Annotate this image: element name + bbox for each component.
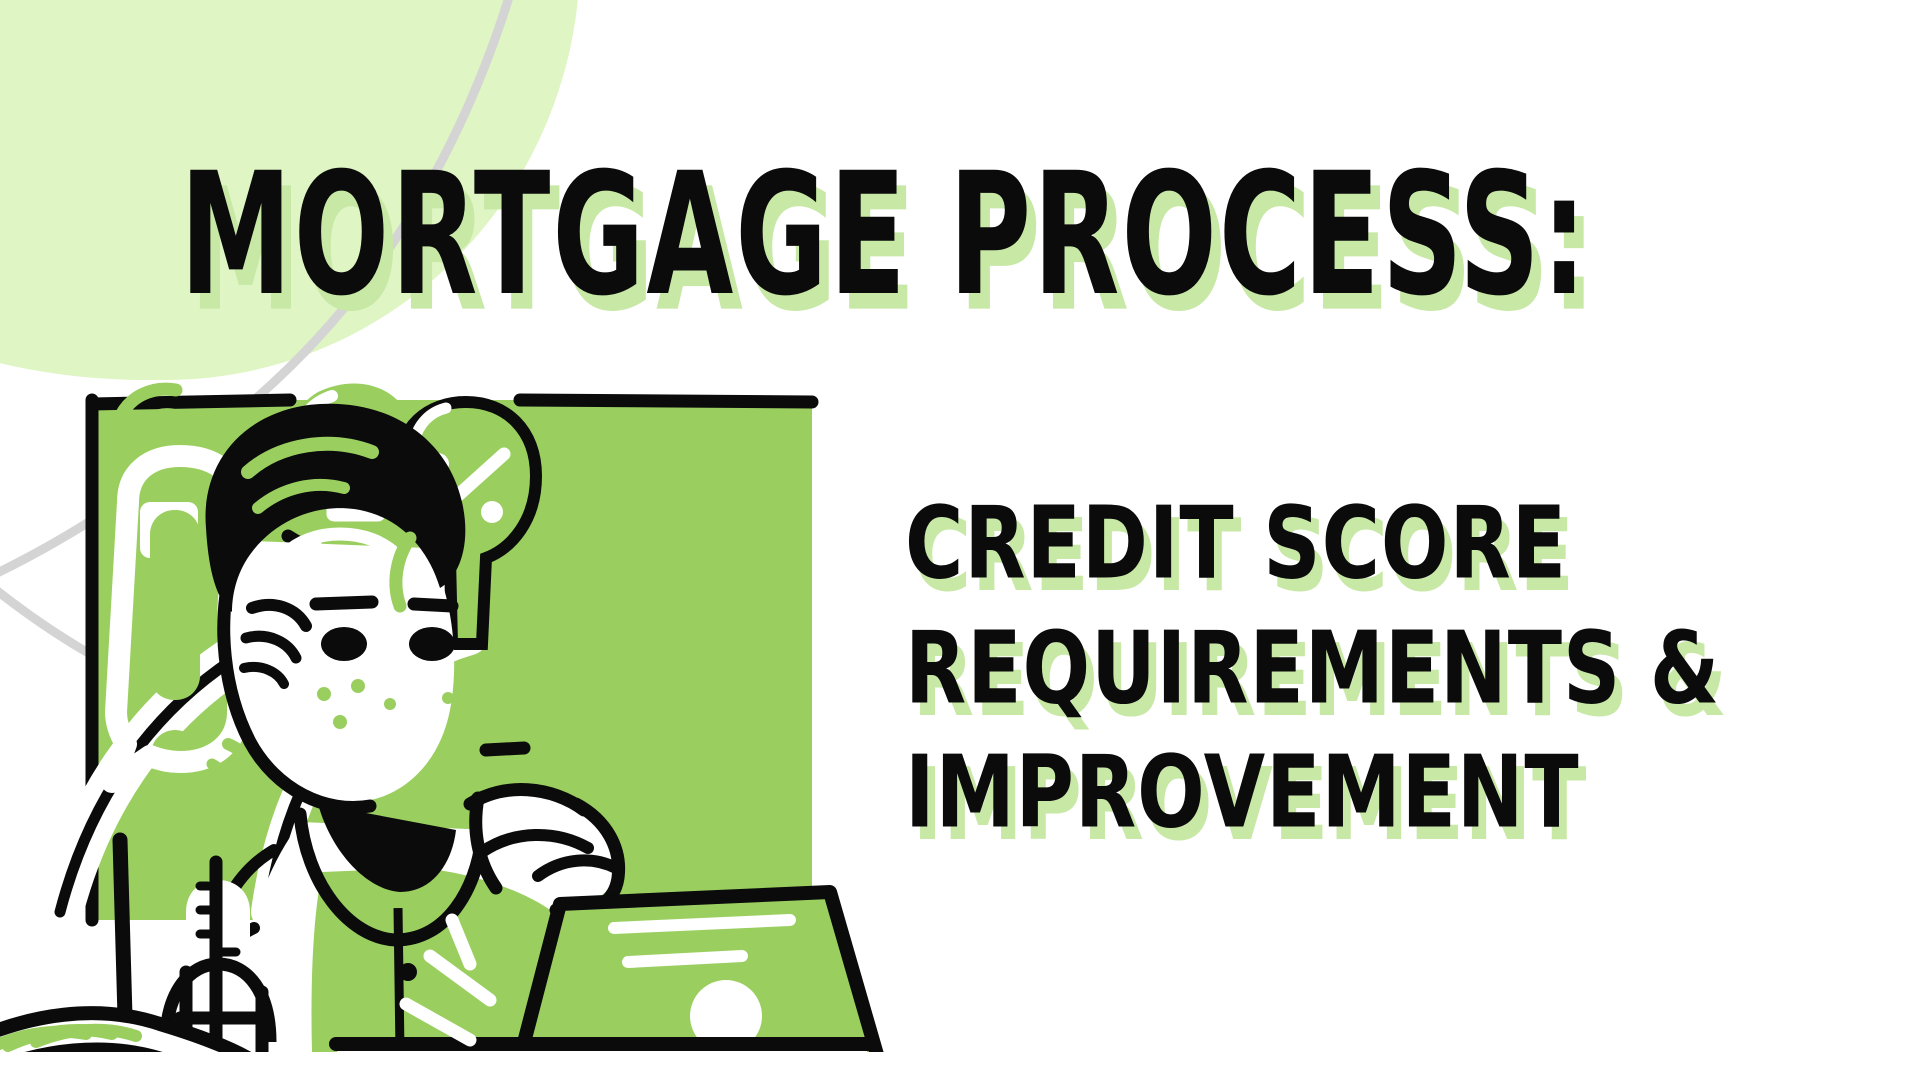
poster-canvas: MORTGAGE PROCESS: (0, 0, 1920, 1080)
subtitle-line-1: CREDIT SCORE (905, 480, 1856, 610)
subtitle-line-3: IMPROVEMENT (905, 729, 1856, 859)
page-title: MORTGAGE PROCESS: (180, 150, 1589, 319)
subtitle-line-2: REQUIREMENTS & (905, 605, 1856, 735)
subtitle-block: CREDIT SCORE REQUIREMENTS & IMPROVEMENT (905, 480, 1885, 854)
hero-illustration (0, 352, 900, 1052)
